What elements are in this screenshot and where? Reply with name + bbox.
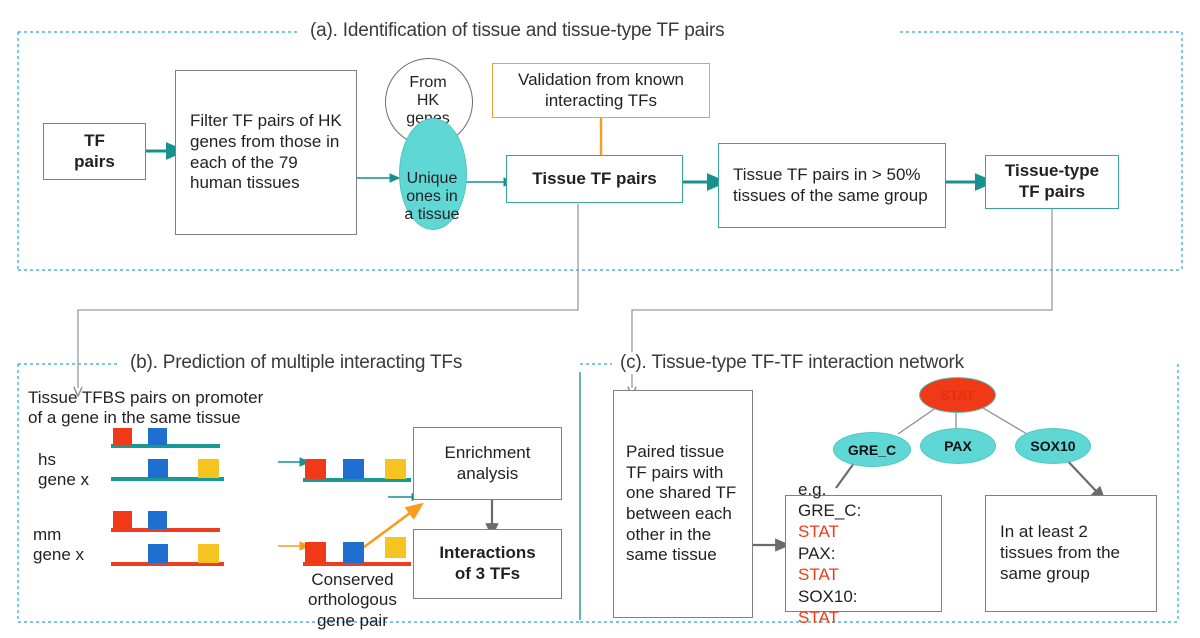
example-pair-3: SOX10:STAT <box>798 586 858 629</box>
interactions-label: Interactions of 3 TFs <box>439 543 535 584</box>
example-pair-2-right: STAT <box>798 564 839 585</box>
example-pair-1: GRE_C:STAT <box>798 500 861 543</box>
tf-pairs-label: TF pairs <box>74 131 115 172</box>
paired-tissue-tf-box[interactable]: Paired tissue TF pairs with one shared T… <box>613 390 753 618</box>
unique-ones-label: Unique ones in a tissue <box>396 170 468 224</box>
filter-tf-label: Filter TF pairs of HK genes from those i… <box>190 111 342 194</box>
tfbs-yellow-icon <box>385 537 406 558</box>
tfbs-caption: Tissue TFBS pairs on promoter of a gene … <box>28 388 263 429</box>
examples-box[interactable]: e.g. GRE_C:STAT PAX:STAT SOX10:STAT <box>785 495 942 612</box>
conserved-gene-pair-label: Conserved orthologous gene pair <box>308 570 397 631</box>
interactions-box[interactable]: Interactions of 3 TFs <box>413 529 562 599</box>
example-pair-3-right: STAT <box>798 607 858 628</box>
panel-c-title: (c). Tissue-type TF-TF interaction netwo… <box>614 352 970 374</box>
tfbs-red-icon <box>305 459 326 479</box>
tissue-tf-pairs-label: Tissue TF pairs <box>532 169 656 190</box>
tissues-group-box[interactable]: In at least 2 tissues from the same grou… <box>985 495 1157 612</box>
enrichment-analysis-box[interactable]: Enrichment analysis <box>413 427 562 500</box>
network-node-stat[interactable]: STAT <box>919 377 996 413</box>
fifty-percent-box[interactable]: Tissue TF pairs in > 50% tissues of the … <box>718 143 946 228</box>
fifty-percent-label: Tissue TF pairs in > 50% tissues of the … <box>733 165 931 206</box>
tfbs-blue-icon <box>148 544 168 563</box>
tf-pairs-box[interactable]: TF pairs <box>43 123 146 180</box>
network-node-pax[interactable]: PAX <box>920 428 996 464</box>
tissue-type-tf-pairs-box[interactable]: Tissue-type TF pairs <box>985 155 1119 209</box>
tfbs-red-icon <box>113 428 132 445</box>
example-pair-2-left: PAX: <box>798 543 839 564</box>
paired-tissue-tf-label: Paired tissue TF pairs with one shared T… <box>626 442 740 566</box>
example-pair-1-left: GRE_C: <box>798 500 861 521</box>
tfbs-blue-icon <box>343 542 364 563</box>
tissues-group-label: In at least 2 tissues from the same grou… <box>1000 522 1142 584</box>
examples-prefix: e.g. <box>798 479 826 500</box>
filter-tf-box[interactable]: Filter TF pairs of HK genes from those i… <box>175 70 357 235</box>
tfbs-yellow-icon <box>198 544 219 563</box>
tfbs-blue-icon <box>148 459 168 478</box>
validation-label: Validation from known interacting TFs <box>503 70 699 111</box>
tissue-tf-pairs-box[interactable]: Tissue TF pairs <box>506 155 683 203</box>
mm-gene-label: mm gene x <box>33 525 84 566</box>
example-pair-3-left: SOX10: <box>798 586 858 607</box>
network-node-sox10-label: SOX10 <box>1030 438 1075 454</box>
network-node-grec[interactable]: GRE_C <box>833 432 911 467</box>
tfbs-red-icon <box>113 511 132 529</box>
tfbs-blue-icon <box>148 511 167 529</box>
example-pair-2: PAX:STAT <box>798 543 839 586</box>
hs-gene-label: hs gene x <box>38 450 89 491</box>
tfbs-blue-icon <box>343 459 364 479</box>
network-node-stat-label: STAT <box>940 387 974 403</box>
tfbs-yellow-icon <box>385 459 406 479</box>
tfbs-blue-icon <box>148 428 167 445</box>
tfbs-yellow-icon <box>198 459 219 478</box>
network-node-pax-label: PAX <box>944 438 972 454</box>
validation-box[interactable]: Validation from known interacting TFs <box>492 63 710 118</box>
tissue-type-tf-pairs-label: Tissue-type TF pairs <box>1005 161 1099 202</box>
example-pair-1-right: STAT <box>798 521 861 542</box>
network-node-grec-label: GRE_C <box>848 442 896 458</box>
panel-b-title: (b). Prediction of multiple interacting … <box>124 352 468 374</box>
enrichment-analysis-label: Enrichment analysis <box>445 443 531 484</box>
panel-a-title: (a). Identification of tissue and tissue… <box>304 20 730 42</box>
tfbs-red-icon <box>305 542 326 563</box>
network-node-sox10[interactable]: SOX10 <box>1015 428 1091 464</box>
